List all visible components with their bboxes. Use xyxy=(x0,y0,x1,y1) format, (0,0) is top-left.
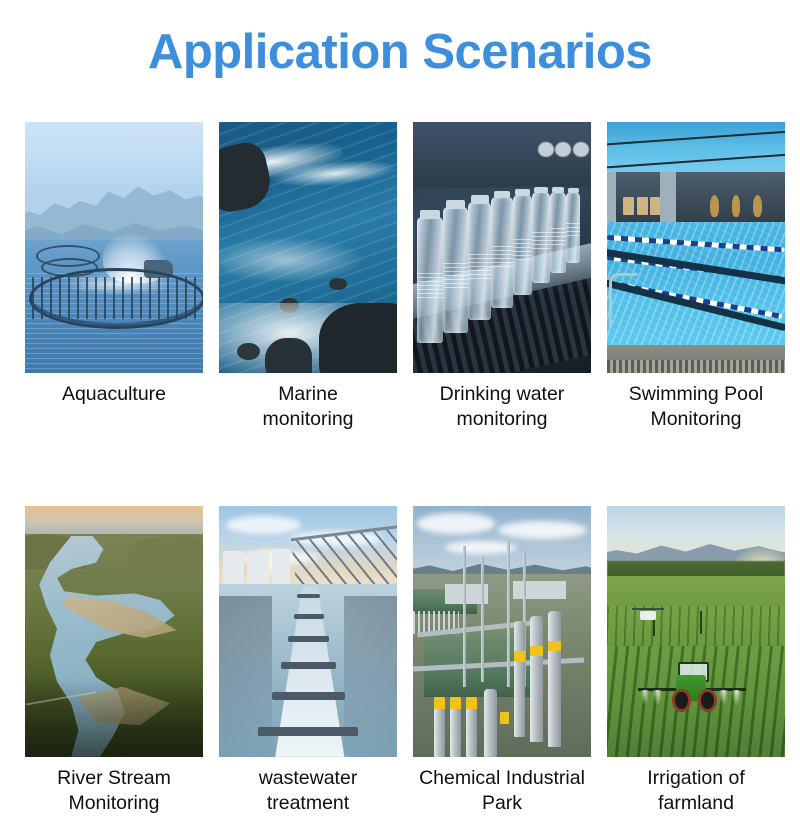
weir xyxy=(297,594,320,598)
valve xyxy=(450,697,461,710)
weir xyxy=(272,692,345,700)
scenario-label-wastewater-treatment: wastewater treatment xyxy=(219,766,397,816)
label-line-1: wastewater xyxy=(219,766,397,791)
process-column xyxy=(530,616,542,742)
valve xyxy=(548,641,560,651)
scenario-row-1: Aquaculture xyxy=(0,122,800,432)
scenario-row-2: River Stream Monitoring xyxy=(0,506,800,816)
pool-ladder-rail xyxy=(609,273,637,326)
scenario-card-swimming-pool-monitoring[interactable]: Swimming Pool Monitoring xyxy=(607,122,785,432)
plant-building xyxy=(513,581,566,599)
label-line-1: Irrigation of xyxy=(607,766,785,791)
label-line-2: Park xyxy=(413,791,591,816)
tractor-wheel xyxy=(672,689,690,712)
weir xyxy=(258,727,358,737)
weir xyxy=(281,662,336,669)
scenario-card-marine-monitoring[interactable]: Marine monitoring xyxy=(219,122,397,432)
label-line-1: Swimming Pool xyxy=(607,382,785,407)
drinking-water-monitoring-image xyxy=(413,122,591,373)
label-line-2: monitoring xyxy=(219,407,397,432)
scenario-label-chemical-industrial-park: Chemical Industrial Park xyxy=(413,766,591,816)
label-line-2: Monitoring xyxy=(607,407,785,432)
support-pole xyxy=(463,546,466,687)
coastal-rock xyxy=(319,303,397,373)
process-column xyxy=(514,621,525,736)
swimming-pool-monitoring-image xyxy=(607,122,785,373)
label-line-1: River Stream xyxy=(25,766,203,791)
scenario-label-aquaculture: Aquaculture xyxy=(25,382,203,407)
tractor-with-sprayer xyxy=(668,662,716,712)
plant-building xyxy=(223,551,244,586)
grass-hill xyxy=(128,536,203,564)
label-line-2: Monitoring xyxy=(25,791,203,816)
process-column xyxy=(548,611,560,747)
support-pole xyxy=(507,541,510,687)
support-pole xyxy=(481,556,484,682)
scenario-card-chemical-industrial-park[interactable]: Chemical Industrial Park xyxy=(413,506,591,816)
valve xyxy=(514,651,525,661)
coastal-rock xyxy=(265,338,311,373)
label-line-2: monitoring xyxy=(413,407,591,432)
tractor-wheel xyxy=(698,689,716,712)
weir xyxy=(294,614,324,619)
scenario-card-river-stream-monitoring[interactable]: River Stream Monitoring xyxy=(25,506,203,816)
label-line-2: farmland xyxy=(607,791,785,816)
scenario-label-swimming-pool-monitoring: Swimming Pool Monitoring xyxy=(607,382,785,432)
scenario-label-river-stream-monitoring: River Stream Monitoring xyxy=(25,766,203,816)
process-column xyxy=(484,689,496,757)
river-stream-monitoring-image xyxy=(25,506,203,757)
scenario-grid: Aquaculture xyxy=(0,122,800,816)
scenario-card-wastewater-treatment[interactable]: wastewater treatment xyxy=(219,506,397,816)
deck-drain-grate xyxy=(607,360,785,373)
label-line-1: Chemical Industrial xyxy=(413,766,591,791)
application-scenarios-page: Application Scenarios A xyxy=(0,0,800,774)
plant-building xyxy=(247,551,268,586)
label-line-1: Marine xyxy=(219,382,397,407)
valve xyxy=(466,697,477,710)
scenario-label-marine-monitoring: Marine monitoring xyxy=(219,382,397,432)
valve xyxy=(434,697,445,710)
plant-building xyxy=(272,549,290,587)
weir xyxy=(288,636,329,642)
valve xyxy=(500,712,509,725)
scenario-label-drinking-water-monitoring: Drinking water monitoring xyxy=(413,382,591,432)
marine-monitoring-image xyxy=(219,122,397,373)
scenario-label-irrigation-of-farmland: Irrigation of farmland xyxy=(607,766,785,816)
irrigation-of-farmland-image xyxy=(607,506,785,757)
label-line-1: Drinking water xyxy=(413,382,591,407)
water-bottle-row xyxy=(413,122,591,373)
scenario-card-aquaculture[interactable]: Aquaculture xyxy=(25,122,203,407)
scenario-card-drinking-water-monitoring[interactable]: Drinking water monitoring xyxy=(413,122,591,432)
valve xyxy=(530,646,542,656)
spray-drone xyxy=(632,606,664,621)
label-line-2: treatment xyxy=(219,791,397,816)
aquaculture-image xyxy=(25,122,203,373)
chemical-industrial-park-image xyxy=(413,506,591,757)
fish-pen-large xyxy=(29,268,203,329)
scenario-card-irrigation-of-farmland[interactable]: Irrigation of farmland xyxy=(607,506,785,816)
page-title: Application Scenarios xyxy=(0,26,800,80)
wastewater-treatment-image xyxy=(219,506,397,757)
